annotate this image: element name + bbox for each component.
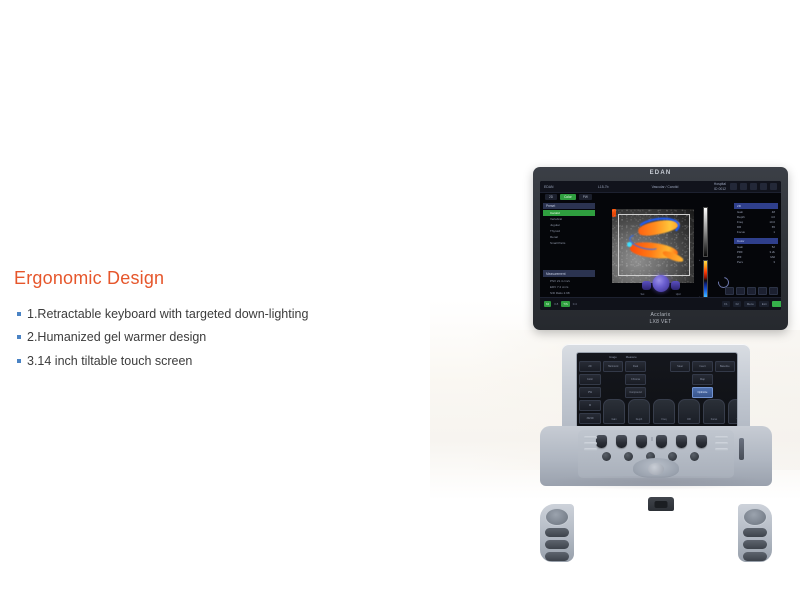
probe-slot-left-2[interactable] [545,540,569,549]
touch-button-row: Compound Optimize [603,387,735,398]
knob-2[interactable] [616,435,627,448]
feature-text: 3.14 inch tiltable touch screen [27,353,192,370]
probe-slot-left-3[interactable] [545,552,569,561]
touch-button-optimize[interactable]: Optimize [692,387,712,398]
touch-button-dual[interactable]: Dual [625,361,645,372]
knob-4[interactable] [656,435,667,448]
soft-key-gain[interactable]: Gain [603,399,625,424]
trackball-right-key-indicator [671,281,680,290]
exit-key[interactable]: Exit [759,301,769,307]
soft-key-freq[interactable]: Freq [653,399,675,424]
gel-warmer-left[interactable] [545,508,569,526]
probe-slot-right-3[interactable] [743,552,767,561]
trackball-right-label: Upd [676,293,681,296]
roi-box [618,214,690,276]
knob-3[interactable] [636,435,647,448]
console-key[interactable] [584,436,597,439]
control-deck-surface [578,430,734,478]
probe-holder-right [738,504,772,562]
caliper-icon[interactable] [736,287,745,295]
tab-color[interactable]: Color [560,194,576,200]
small-knob-5[interactable] [690,452,699,461]
touch-button-blank [603,374,623,385]
console-keys-left [584,436,597,451]
zoom-icon[interactable] [725,287,734,295]
touch-button-blank [648,374,668,385]
page-title: Ergonomic Design [14,268,344,290]
feature-text: 2.Humanized gel warmer design [27,329,206,346]
param-panel-2d-title: 2D [734,203,778,209]
model-number-line: LX8 VET [649,319,671,325]
brand-logo: EDAN [533,170,788,176]
param-value: 1 [773,230,775,234]
screen-colorbars: + - [702,207,708,299]
probe-slot-left-1[interactable] [545,528,569,537]
save-icon[interactable] [740,183,747,190]
monitor-neck-joint [654,501,667,508]
topbar-institution: EDAN [540,185,594,189]
param-value: 3 [773,260,775,264]
model-brand-line: Acclarix [651,312,671,318]
ultrasound-monitor: EDAN EDAN L15-7b Vascular / Carotid Hosp… [533,167,788,330]
touch-button-2d[interactable]: 2D [579,361,601,372]
param-value: 48 [772,210,775,214]
power-icon[interactable] [770,183,777,190]
param-key: Freq [737,220,743,224]
feature-list: 1.Retractable keyboard with targeted dow… [14,306,344,371]
console-key[interactable] [715,436,728,439]
touch-button-row: Chroma Map [603,374,735,385]
console-key[interactable] [715,442,728,445]
soft-key-dr[interactable]: DR [678,399,700,424]
console-key[interactable] [584,442,597,445]
feature-text-block: Ergonomic Design 1.Retractable keyboard … [14,268,344,377]
soft-key-tgc[interactable]: TGC [728,399,738,424]
console-key[interactable] [715,448,728,451]
topbar-patient-id: ID 0012 [714,187,726,191]
small-knob-1[interactable] [602,452,611,461]
probe-slot-right-1[interactable] [743,528,767,537]
function-key-f1[interactable]: F1 [722,301,730,307]
touch-button-blank [715,387,735,398]
console-key[interactable] [584,448,597,451]
console-control-deck [540,426,772,486]
tis-badge: TIS [561,301,570,307]
measurement-panel-title: Measurement [543,270,595,276]
panel-spacer [543,246,595,270]
param-value: 4.0 [771,215,775,219]
screen-mode-tabs: 2D Color PW [540,192,781,201]
topbar-exam-title: Vascular / Carotid [644,185,686,189]
param-key: DR [737,225,741,229]
cine-icon[interactable] [769,287,778,295]
bodymark-icon[interactable] [758,287,767,295]
mi-badge: MI [544,301,551,307]
menu-icon[interactable] [760,183,767,190]
touch-button-blank [670,387,690,398]
touch-screen-button-grid: Harmonic Dual Steer Invert Baseline Chro… [603,361,735,400]
param-value: 65 [772,225,775,229]
probe-slot-right-2[interactable] [743,540,767,549]
list-item: 1.Retractable keyboard with targeted dow… [14,306,344,323]
screen-quick-icons [725,287,778,295]
touch-button-blank [670,374,690,385]
screen-right-panel: 2D Gain 48 Depth 4.0 Freq 10.0 DR 65 [734,203,778,264]
touch-button-3d4d[interactable]: 3D/4D [579,413,601,424]
page-root: Ergonomic Design 1.Retractable keyboard … [0,0,800,600]
probe-holder-left [540,504,574,562]
ultrasound-console: Image Measure 2D Color PW M 3D/4D Preset… [540,344,772,486]
bullet-icon [17,335,21,339]
param-key: Focus [737,230,745,234]
param-value: 3.2k [770,250,775,254]
touch-button-blank [648,361,668,372]
bullet-icon [17,312,21,316]
freeze-icon[interactable] [730,183,737,190]
touch-button-pw[interactable]: PW [579,387,601,398]
bullet-icon [17,359,21,363]
touch-button-blank [715,374,735,385]
param-row: Pers 3 [734,259,778,264]
screen-bottombar: MI 0.8 TIS 0.4 F1 F2 Menu Exit [540,297,781,310]
list-item: 2.Humanized gel warmer design [14,329,344,346]
param-key: PRF [737,250,743,254]
list-item: 3.14 inch tiltable touch screen [14,353,344,370]
monitor-neck [648,497,674,511]
tab-image[interactable]: Image [609,355,617,359]
touch-button-compound[interactable]: Compound [625,387,645,398]
param-key: Depth [737,215,745,219]
menu-key[interactable]: Menu [744,301,756,307]
param-value: 10.0 [769,220,775,224]
touch-button-color[interactable]: Color [579,374,601,385]
tgc-slider[interactable] [739,438,744,460]
grayscale-bar [703,207,708,257]
touch-button-blank [648,387,668,398]
touch-screen-left-column: 2D Color PW M 3D/4D Preset [579,361,601,428]
touch-button-invert[interactable]: Invert [692,361,712,372]
tab-measure[interactable]: Measure [626,355,637,359]
soft-key-depth[interactable]: Depth [628,399,650,424]
touch-button-steer[interactable]: Steer [670,361,690,372]
topbar-icon-group [730,183,781,190]
param-key: Gain [737,245,743,249]
param-key: Gain [737,210,743,214]
tab-2d[interactable]: 2D [545,194,557,200]
touch-button-m[interactable]: M [579,400,601,411]
knob-row-primary [596,435,707,448]
param-value: Mid [770,255,775,259]
tis-value: 0.4 [573,302,577,306]
preset-panel-title: Preset [543,203,595,209]
touch-button-row: Harmonic Dual Steer Invert Baseline [603,361,735,372]
touch-button-baseline[interactable]: Baseline [715,361,735,372]
colorbar-tick-plus: + [699,259,700,262]
touch-button-blank [603,387,623,398]
param-key: Pers [737,260,743,264]
status-badge [772,301,781,307]
trackball-left-key-indicator [642,281,651,290]
trackball[interactable] [648,463,664,475]
ultrasound-image: Gain 48 / D 4.0cm [612,209,694,283]
monitor-model-label: Acclarix LX8 VET [533,312,788,327]
touch-button-map[interactable]: Map [692,374,712,385]
knob-5[interactable] [676,435,687,448]
mi-value: 0.8 [554,302,558,306]
touch-button-chroma[interactable]: Chroma [625,374,645,385]
monitor-screen: EDAN L15-7b Vascular / Carotid Hospital … [540,181,781,310]
console-touch-screen[interactable]: Image Measure 2D Color PW M 3D/4D Preset… [576,352,738,428]
trackball-pad[interactable] [633,458,679,478]
onscreen-trackball-indicator: Set Upd [641,274,681,296]
touch-screen-tabs: Image Measure [609,355,637,359]
topbar-hospital: Hospital [714,182,726,186]
param-value: 52 [772,245,775,249]
knob-6[interactable] [696,435,707,448]
param-panel-color-title: Color [734,238,778,244]
topbar-probe: L15-7b [594,185,644,189]
annotate-icon[interactable] [747,287,756,295]
tab-pw[interactable]: PW [579,194,592,200]
touch-button-harmonic[interactable]: Harmonic [603,361,623,372]
soft-key-focus[interactable]: Focus [703,399,725,424]
function-key-f2[interactable]: F2 [733,301,741,307]
screen-left-panel: Preset Carotid Vertebral Jugular Thyroid… [543,203,595,296]
feature-text: 1.Retractable keyboard with targeted dow… [27,306,308,323]
print-icon[interactable] [750,183,757,190]
doppler-colorbar [703,260,708,301]
console-keys-right [715,436,728,451]
knob-1[interactable] [596,435,607,448]
gel-warmer-right[interactable] [743,508,767,526]
small-knob-2[interactable] [624,452,633,461]
param-key: WF [737,255,742,259]
trackball-ball-indicator [652,275,669,292]
touch-screen-soft-keys: Gain Depth Freq DR Focus TGC [603,399,738,424]
trackball-left-label: Set [641,293,645,296]
